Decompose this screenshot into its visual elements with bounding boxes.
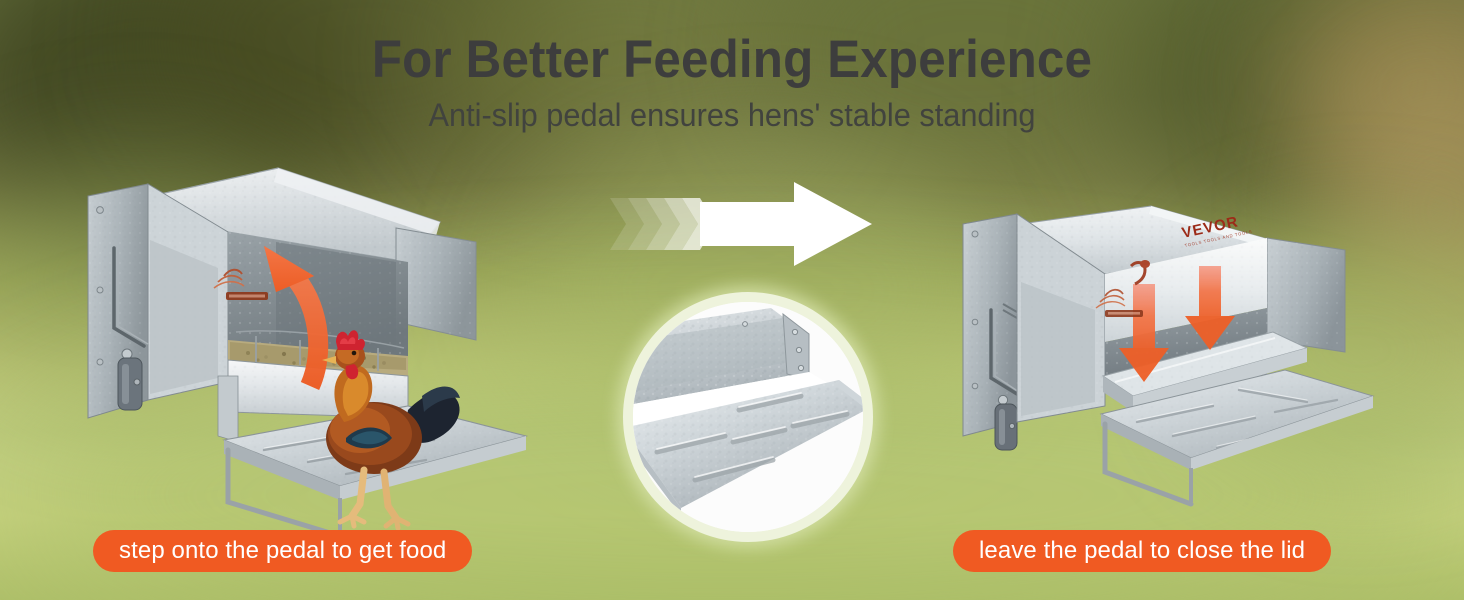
page-title: For Better Feeding Experience (51, 32, 1413, 88)
badge-leave-pedal: leave the pedal to close the lid (953, 530, 1331, 572)
banner-heading-group: For Better Feeding Experience Anti-slip … (0, 32, 1464, 134)
badge-label: step onto the pedal to get food (119, 537, 446, 565)
inset-photo (633, 302, 863, 532)
badge-step-onto-pedal: step onto the pedal to get food (93, 530, 472, 572)
pedal-closeup-inset (613, 282, 883, 552)
product-panel-left-open (78, 150, 548, 540)
promo-banner: For Better Feeding Experience Anti-slip … (0, 0, 1464, 600)
arrow-right-icon (608, 176, 874, 272)
badge-label: leave the pedal to close the lid (979, 537, 1305, 565)
product-panel-right-closed: VEVOR TOOLS TOOLS AND TOOLS (955, 200, 1385, 520)
page-subtitle: Anti-slip pedal ensures hens' stable sta… (29, 97, 1434, 134)
